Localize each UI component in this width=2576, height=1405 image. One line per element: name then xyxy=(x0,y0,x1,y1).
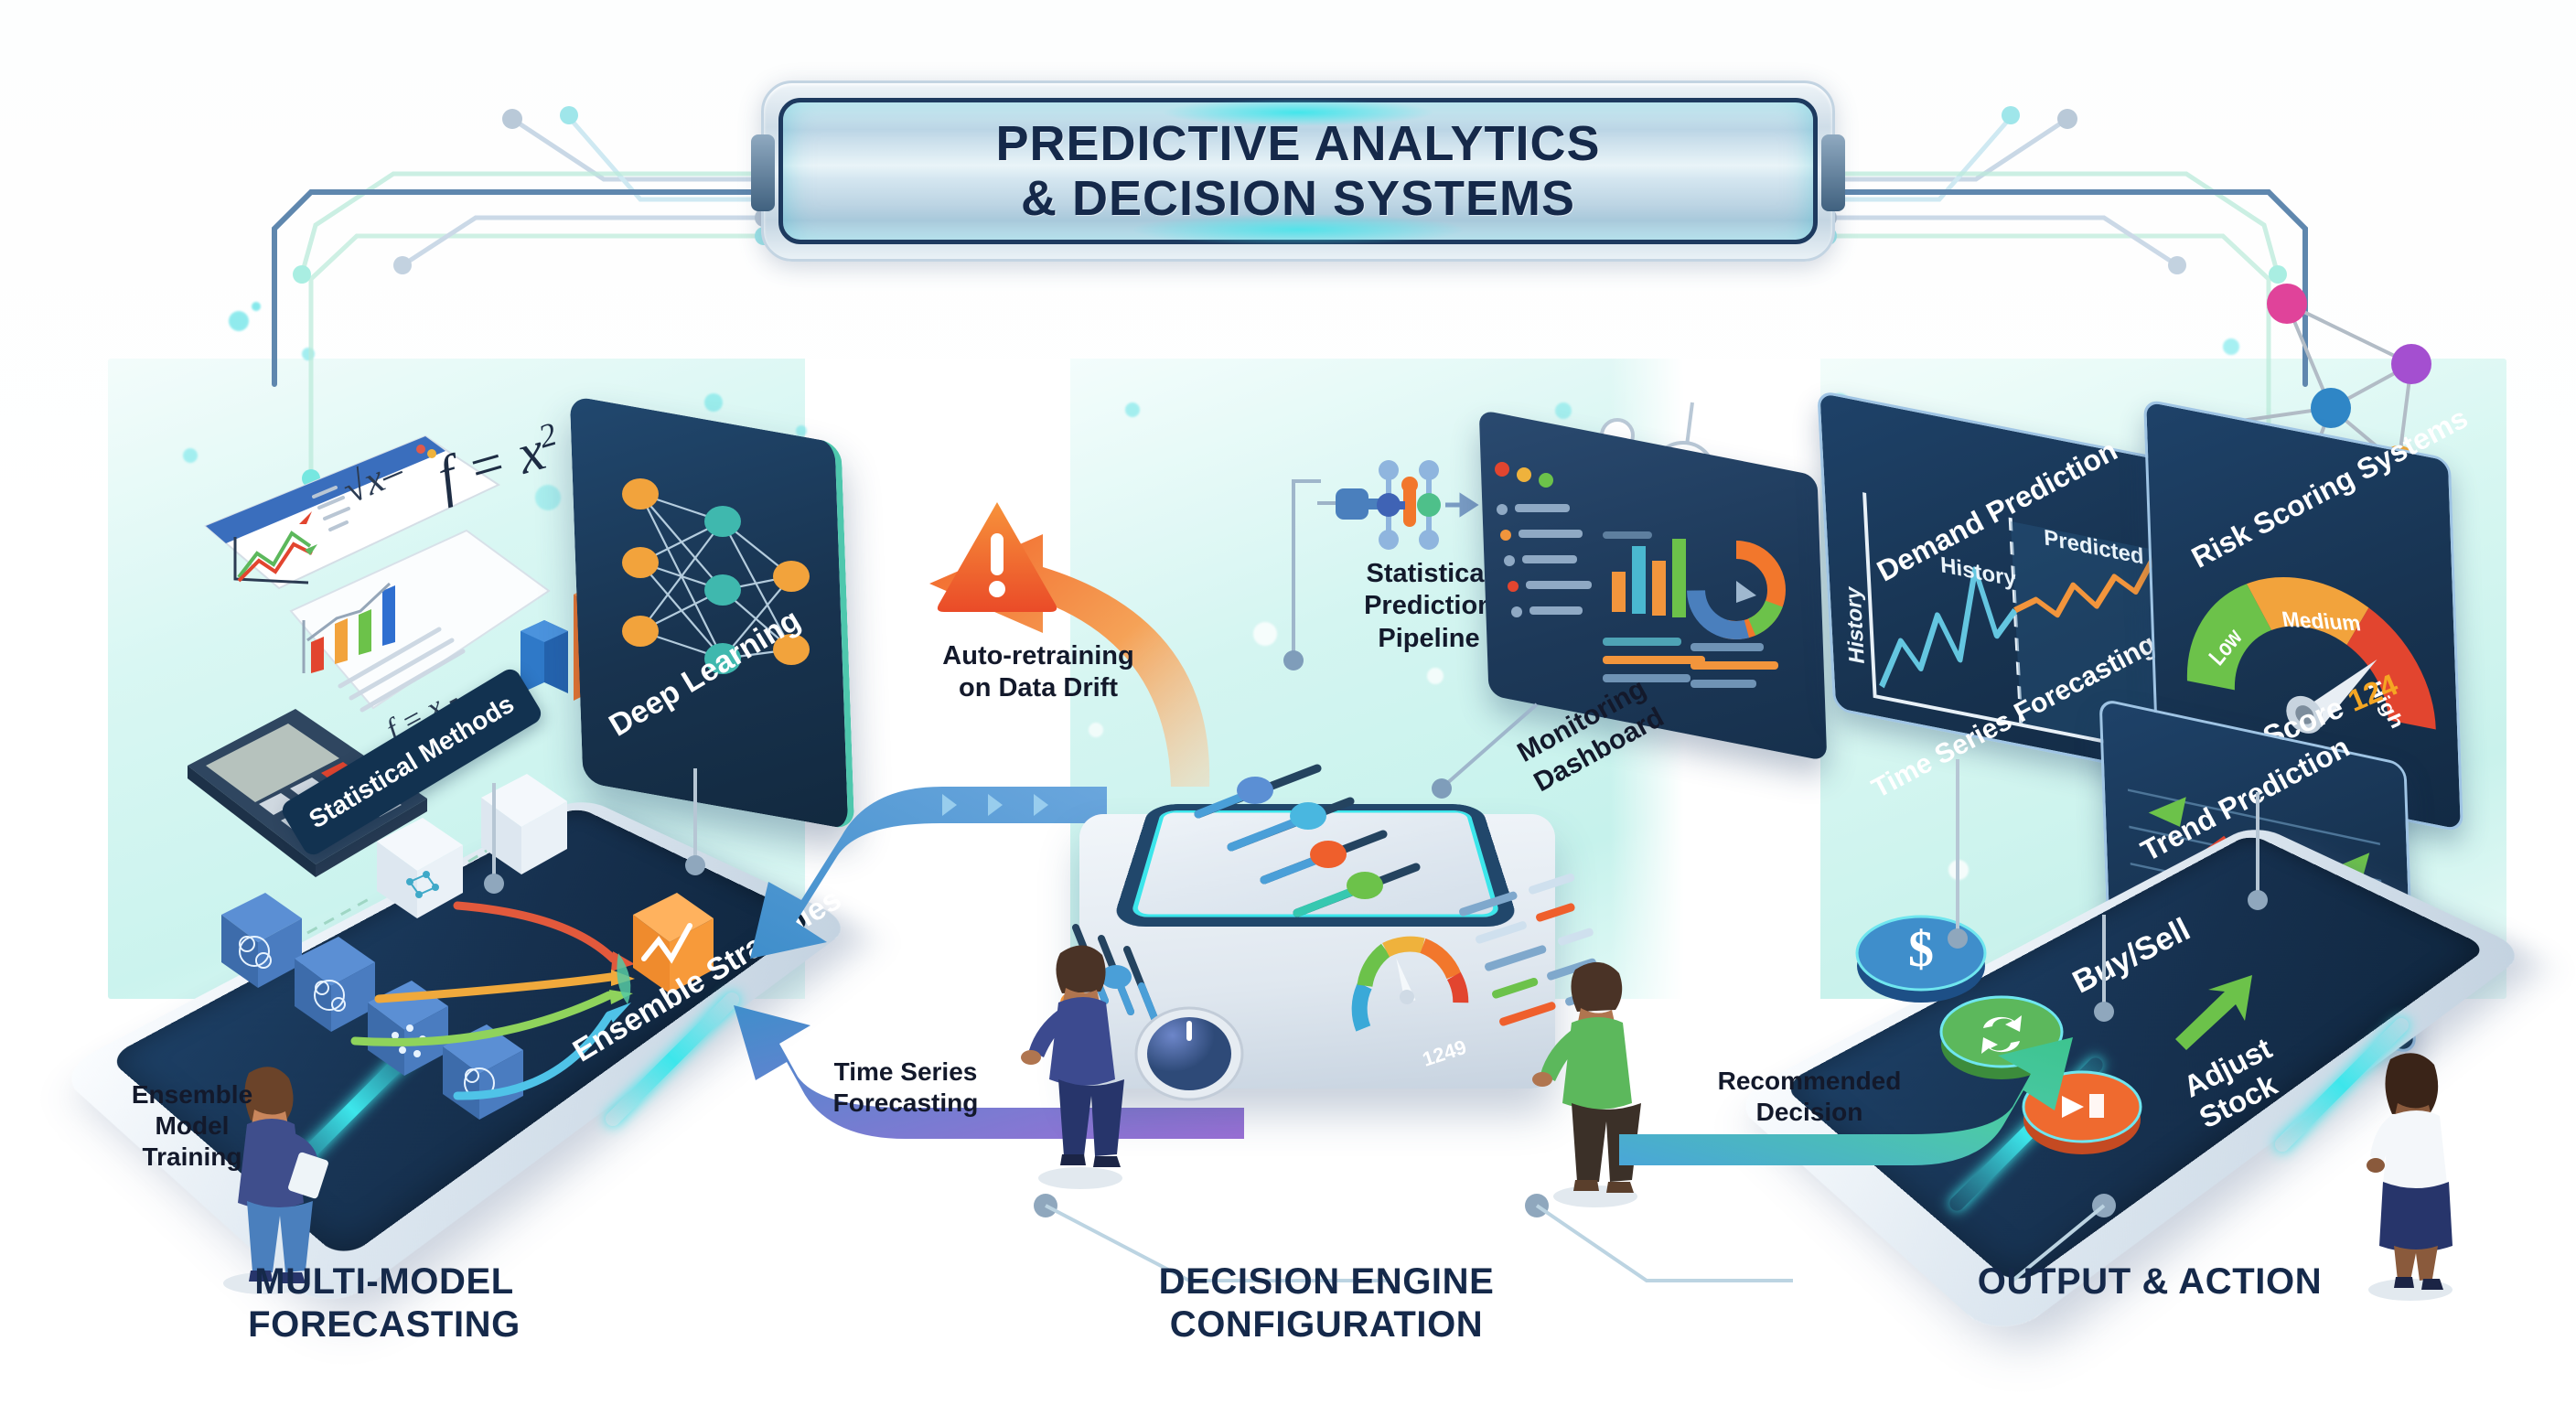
infographic-canvas: PREDICTIVE ANALYTICS & DECISION SYSTEMS xyxy=(0,0,2576,1405)
section-middle-line2: CONFIGURATION xyxy=(1079,1303,1573,1346)
page-title-line1: PREDICTIVE ANALYTICS xyxy=(995,116,1600,171)
page-title-line2: & DECISION SYSTEMS xyxy=(1021,171,1575,226)
section-left-line2: FORECASTING xyxy=(146,1303,622,1346)
section-left-line1: MULTI-MODEL xyxy=(146,1260,622,1303)
section-right-line1: OUTPUT & ACTION xyxy=(1903,1260,2397,1303)
section-heading-middle: DECISION ENGINE CONFIGURATION xyxy=(1079,1260,1573,1346)
section-middle-line1: DECISION ENGINE xyxy=(1079,1260,1573,1303)
section-heading-left: MULTI-MODEL FORECASTING xyxy=(146,1260,622,1346)
section-heading-right: OUTPUT & ACTION xyxy=(1903,1260,2397,1303)
